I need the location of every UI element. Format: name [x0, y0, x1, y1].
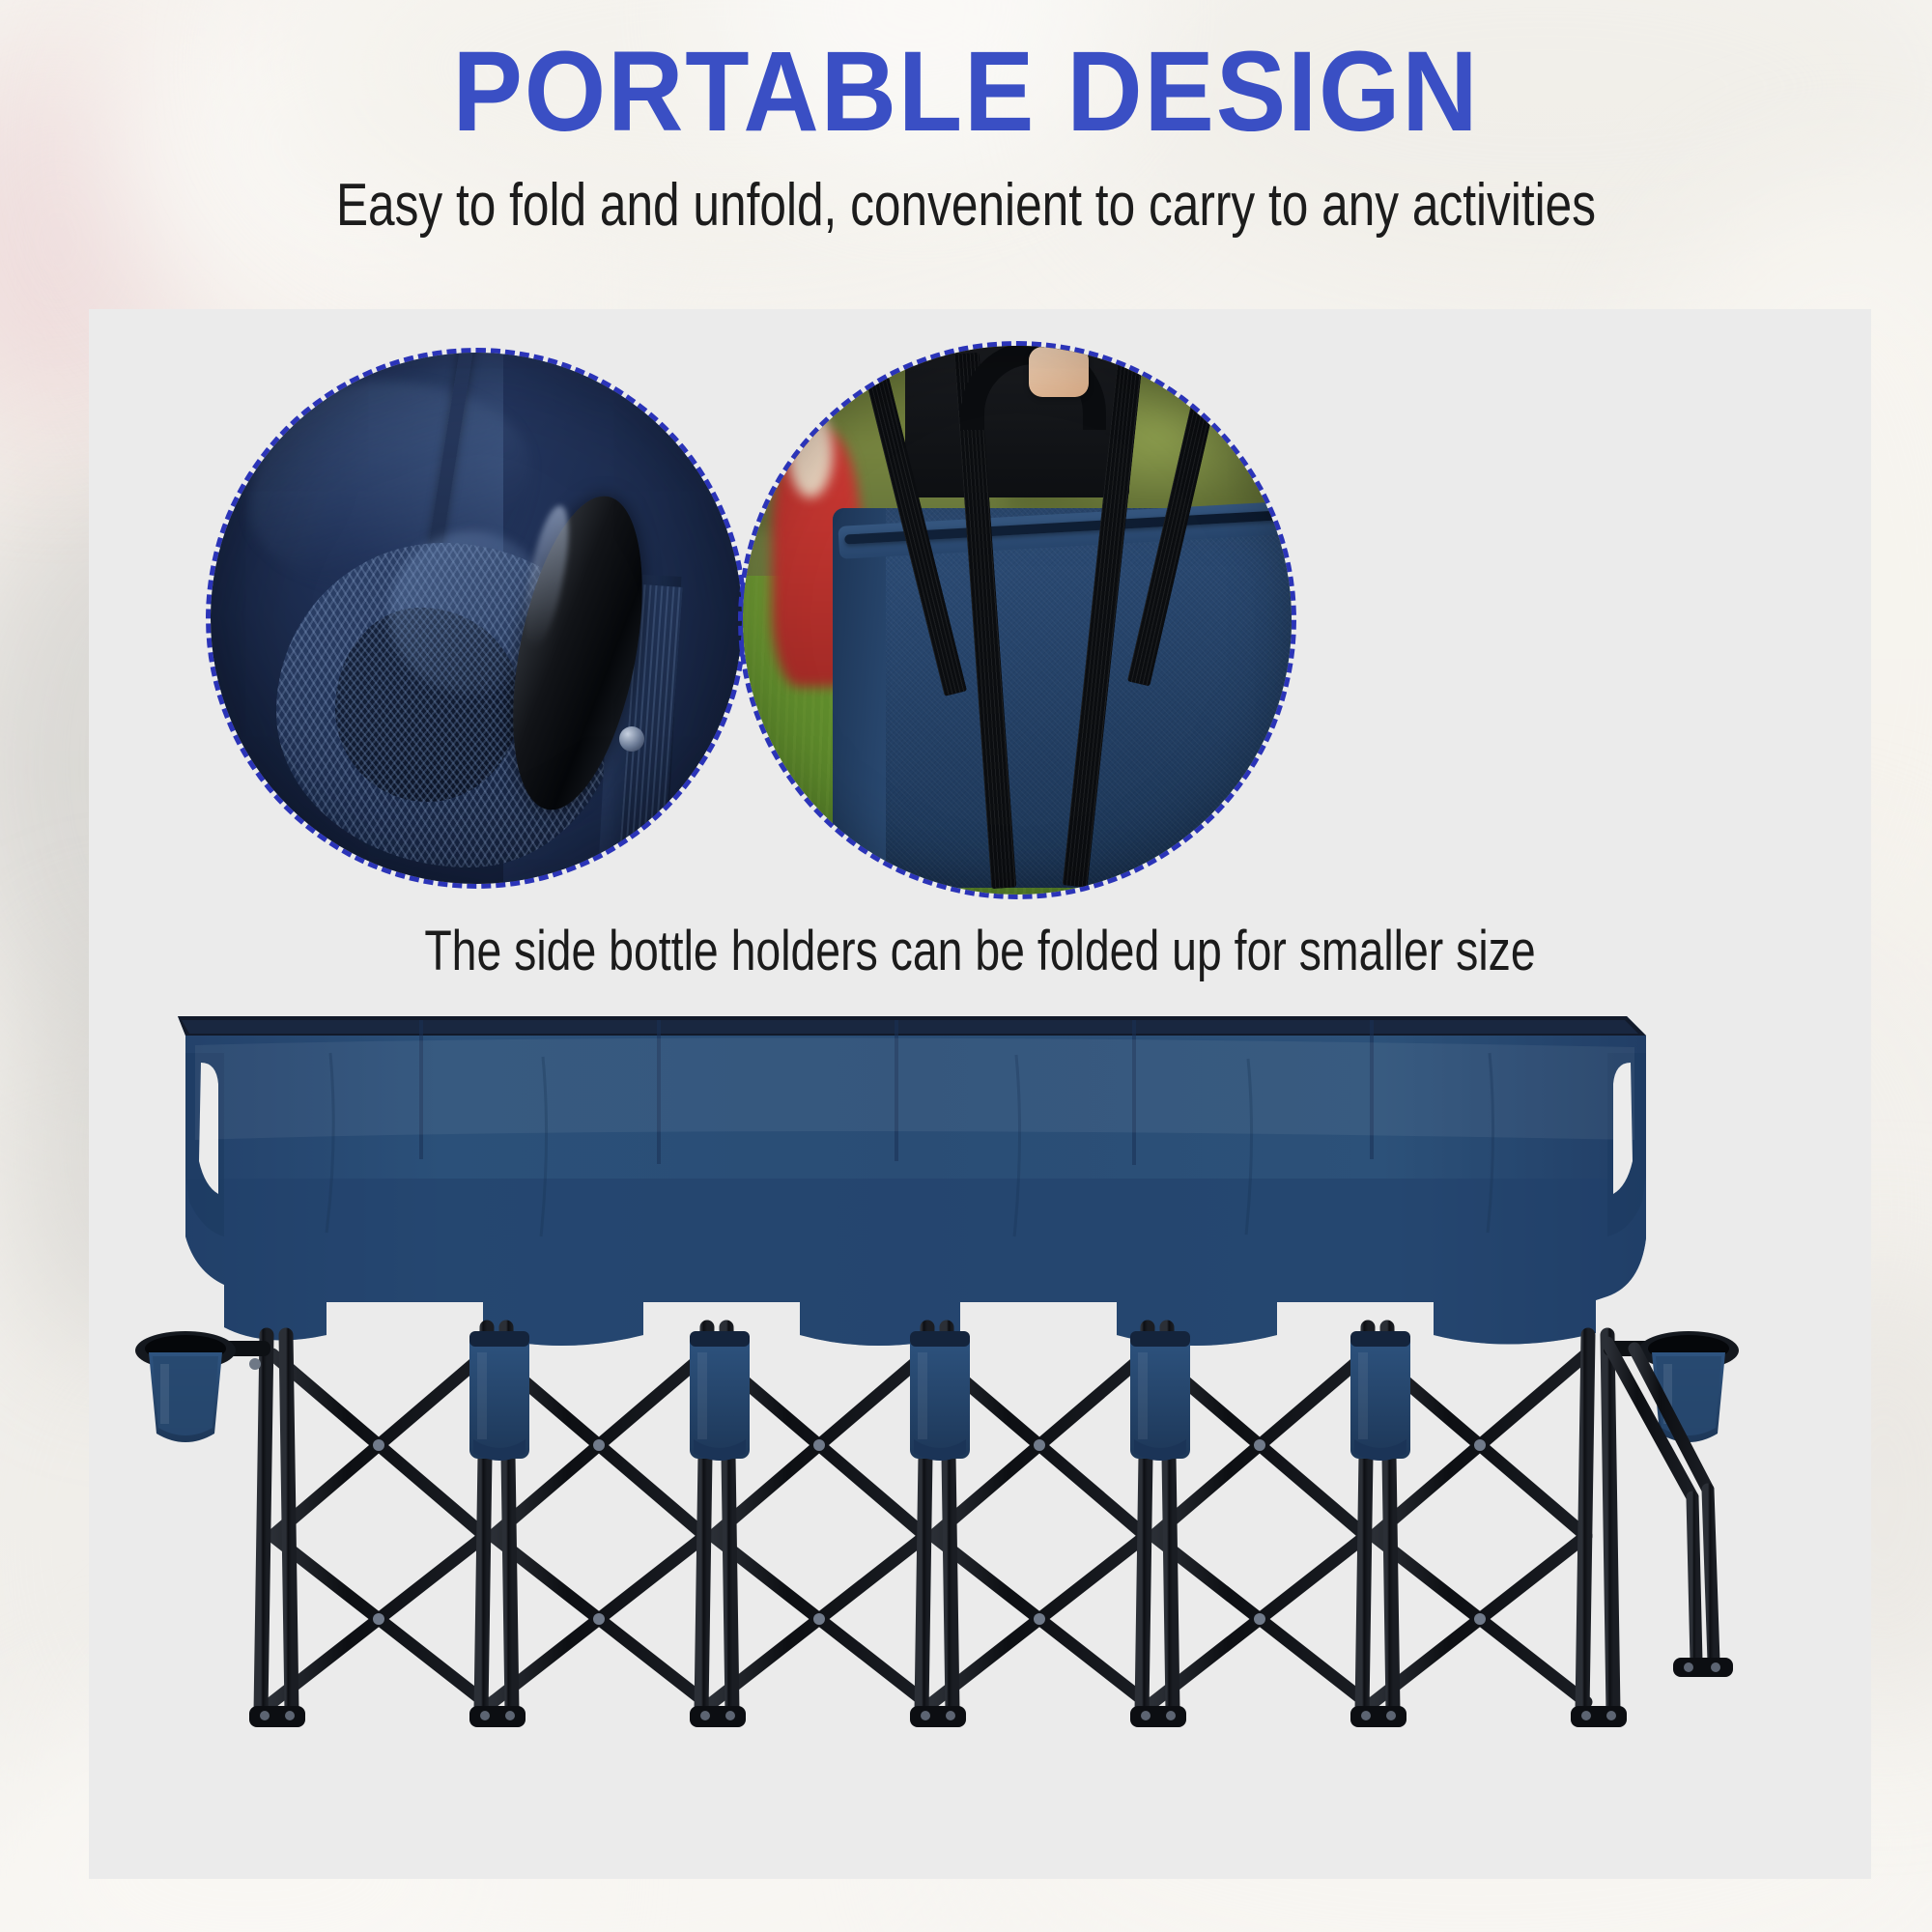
bottle-holder-closeup-image [206, 348, 747, 889]
detail-circles-row [89, 309, 1871, 889]
bench-foot-pads [249, 1706, 1627, 1727]
page-title: PORTABLE DESIGN [77, 35, 1855, 149]
detail-circle-carry-bag [738, 341, 1296, 899]
carry-bag-closeup-image [738, 341, 1296, 899]
detail-circle-bottle-holder [206, 348, 747, 889]
content-panel: The side bottle holders can be folded up… [89, 309, 1871, 1879]
bench-seat-fabric [178, 1016, 1646, 1346]
panel-caption: The side bottle holders can be folded up… [268, 923, 1693, 980]
page-subtitle: Easy to fold and unfold, convenient to c… [193, 176, 1739, 236]
folding-bench-illustration [89, 995, 1871, 1864]
cup-holder-left [135, 1331, 270, 1442]
header: PORTABLE DESIGN Easy to fold and unfold,… [0, 0, 1932, 309]
